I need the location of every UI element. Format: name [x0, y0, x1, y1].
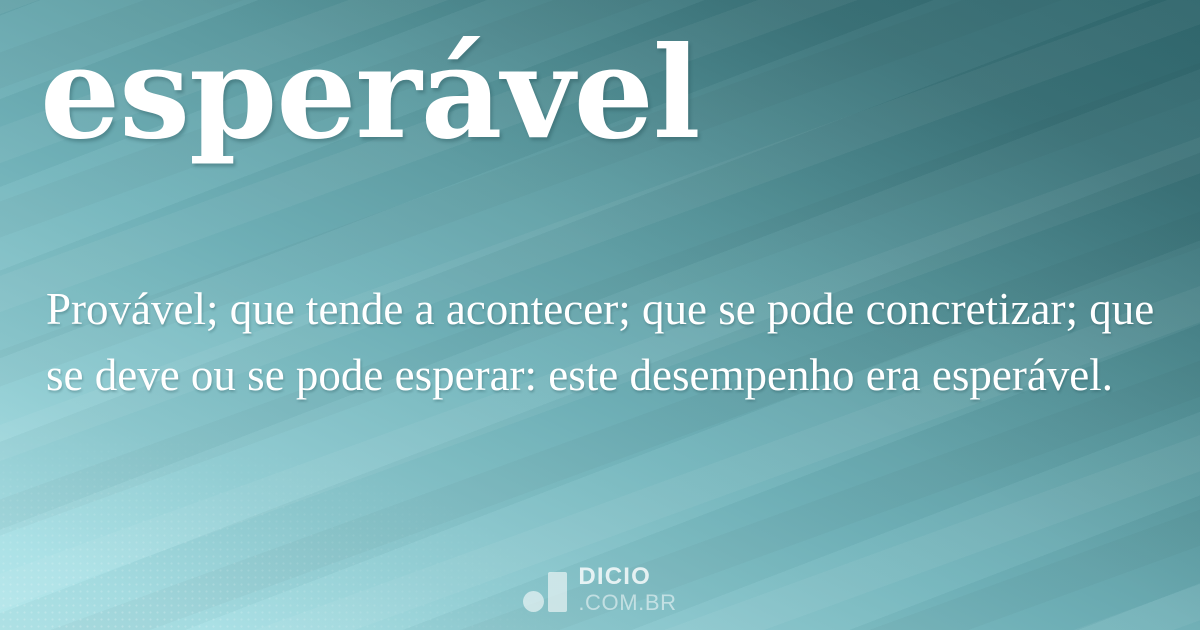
brand-logo-text: DICIO .COM.BR [578, 565, 676, 614]
circle-mark-icon [523, 591, 544, 612]
entry-word-title: esperável [40, 20, 700, 166]
dictionary-share-card: esperável Provável; que tende a acontece… [0, 0, 1200, 630]
card-content: esperável Provável; que tende a acontece… [0, 0, 1200, 630]
brand-name: DICIO [578, 565, 676, 589]
brand-tld: .COM.BR [578, 592, 676, 614]
brand-logo: DICIO .COM.BR [0, 565, 1200, 614]
brand-logo-mark [523, 567, 567, 613]
bar-mark-icon [548, 572, 567, 612]
entry-definition-text: Provável; que tende a acontecer; que se … [46, 276, 1161, 408]
